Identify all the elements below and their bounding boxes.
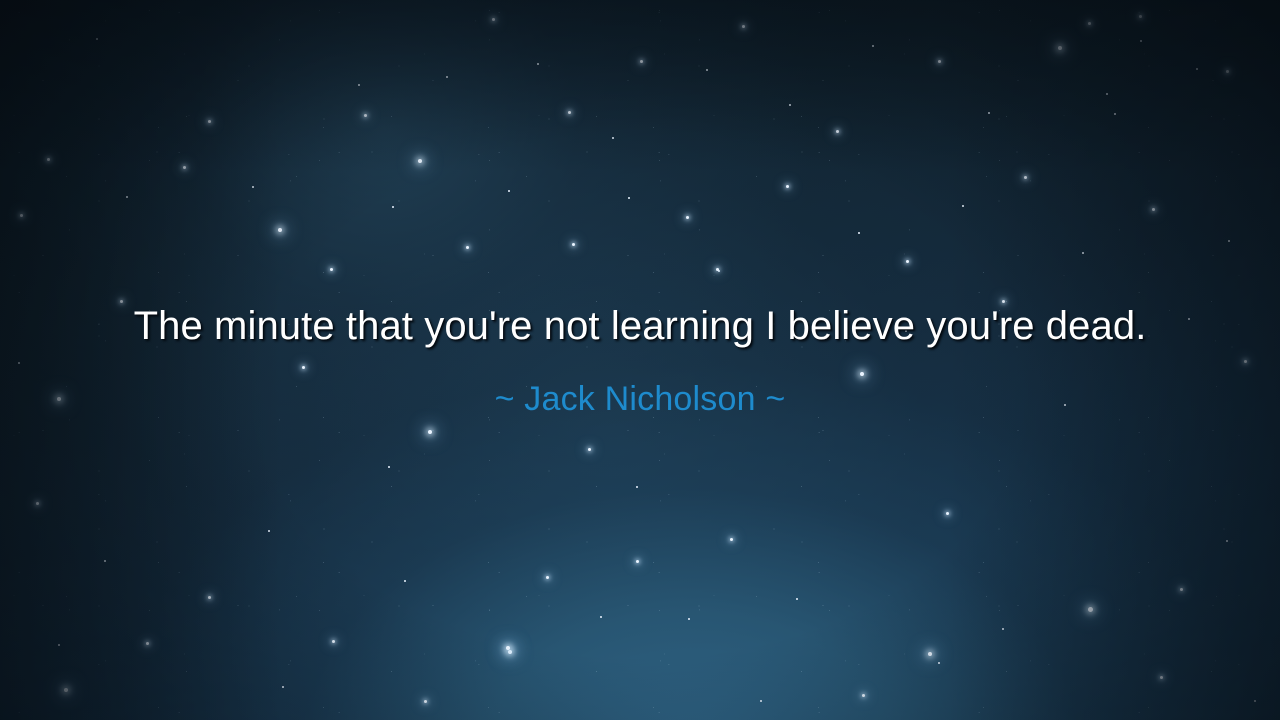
quote-wallpaper: The minute that you're not learning I be… <box>0 0 1280 720</box>
quote-text: The minute that you're not learning I be… <box>0 303 1280 349</box>
quote-attribution: ~ Jack Nicholson ~ <box>0 379 1280 419</box>
quote-text-block: The minute that you're not learning I be… <box>0 0 1280 720</box>
